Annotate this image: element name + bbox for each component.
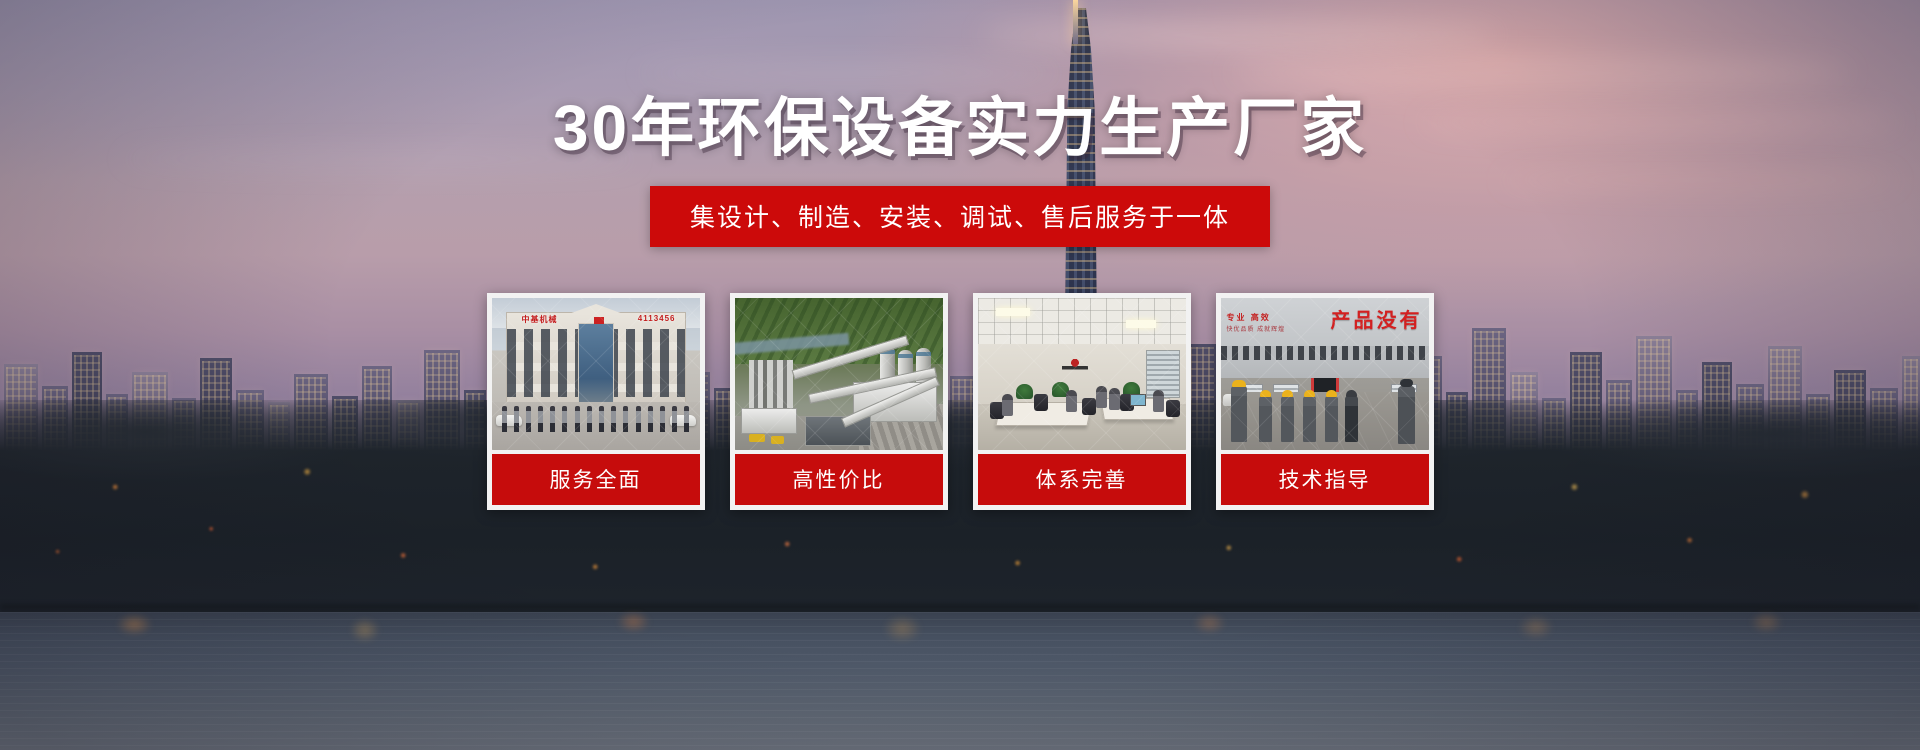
office-chair xyxy=(1166,400,1180,417)
feature-card[interactable]: 专业 高效 快优品质 成就辉煌 产品没有 xyxy=(1216,293,1434,510)
feature-card[interactable]: 体系完善 xyxy=(973,293,1191,510)
plant-hall xyxy=(741,408,797,434)
card-caption: 体系完善 xyxy=(978,454,1186,505)
card-caption: 高性价比 xyxy=(735,454,943,505)
company-headquarters-photo: 中基机械 4113456 xyxy=(492,298,700,450)
page-title: 30年环保设备实力生产厂家 xyxy=(553,96,1367,160)
worker-with-helmet xyxy=(1303,396,1316,442)
supervisor xyxy=(1398,386,1415,444)
promo-banner: 30年环保设备实力生产厂家 集设计、制造、安装、调试、售后服务于一体 中基机械 … xyxy=(0,0,1920,750)
office-interior-photo xyxy=(978,298,1186,450)
worker-with-helmet xyxy=(1281,396,1294,442)
feature-card-list: 中基机械 4113456 服务全面 xyxy=(487,293,1434,510)
office-chair xyxy=(1082,398,1096,415)
computer-monitor xyxy=(1130,394,1146,406)
wall-logo-icon xyxy=(1062,354,1088,376)
ceiling-light xyxy=(1126,320,1156,328)
loader-vehicle xyxy=(771,436,784,444)
feature-card[interactable]: 中基机械 4113456 服务全面 xyxy=(487,293,705,510)
building-phone-text: 4113456 xyxy=(638,314,676,323)
office-worker xyxy=(1109,388,1120,410)
potted-plant xyxy=(1016,384,1033,399)
feature-card[interactable]: 高性价比 xyxy=(730,293,948,510)
office-worker xyxy=(1002,394,1013,416)
facade-slogan-text: 专业 高效 xyxy=(1227,312,1271,323)
subtitle-badge: 集设计、制造、安装、调试、售后服务于一体 xyxy=(650,186,1270,247)
card-caption: 服务全面 xyxy=(492,454,700,505)
banner-content: 30年环保设备实力生产厂家 集设计、制造、安装、调试、售后服务于一体 中基机械 … xyxy=(0,0,1920,750)
building-pediment xyxy=(566,304,626,315)
building-sign-text: 中基机械 xyxy=(522,314,558,325)
staff-row xyxy=(502,406,690,432)
ceiling-light xyxy=(996,308,1030,316)
flag-icon xyxy=(594,317,604,324)
workshop-training-photo: 专业 高效 快优品质 成就辉煌 产品没有 xyxy=(1221,298,1429,450)
office-chair xyxy=(1034,394,1048,411)
worker xyxy=(1345,396,1358,442)
industrial-plant-aerial-photo xyxy=(735,298,943,450)
office-building xyxy=(506,312,686,404)
office-worker xyxy=(1096,386,1107,408)
worker-with-helmet xyxy=(1231,386,1247,442)
facade-banner-text: 产品没有 xyxy=(1331,304,1423,333)
office-worker xyxy=(1153,390,1164,412)
office-worker xyxy=(1066,390,1077,412)
worker-with-helmet xyxy=(1325,396,1338,442)
facade-slogan-sub-text: 快优品质 成就辉煌 xyxy=(1227,324,1286,333)
loader-vehicle xyxy=(749,434,765,442)
worker-with-helmet xyxy=(1259,396,1272,442)
card-caption: 技术指导 xyxy=(1221,454,1429,505)
building-atrium xyxy=(578,323,614,403)
